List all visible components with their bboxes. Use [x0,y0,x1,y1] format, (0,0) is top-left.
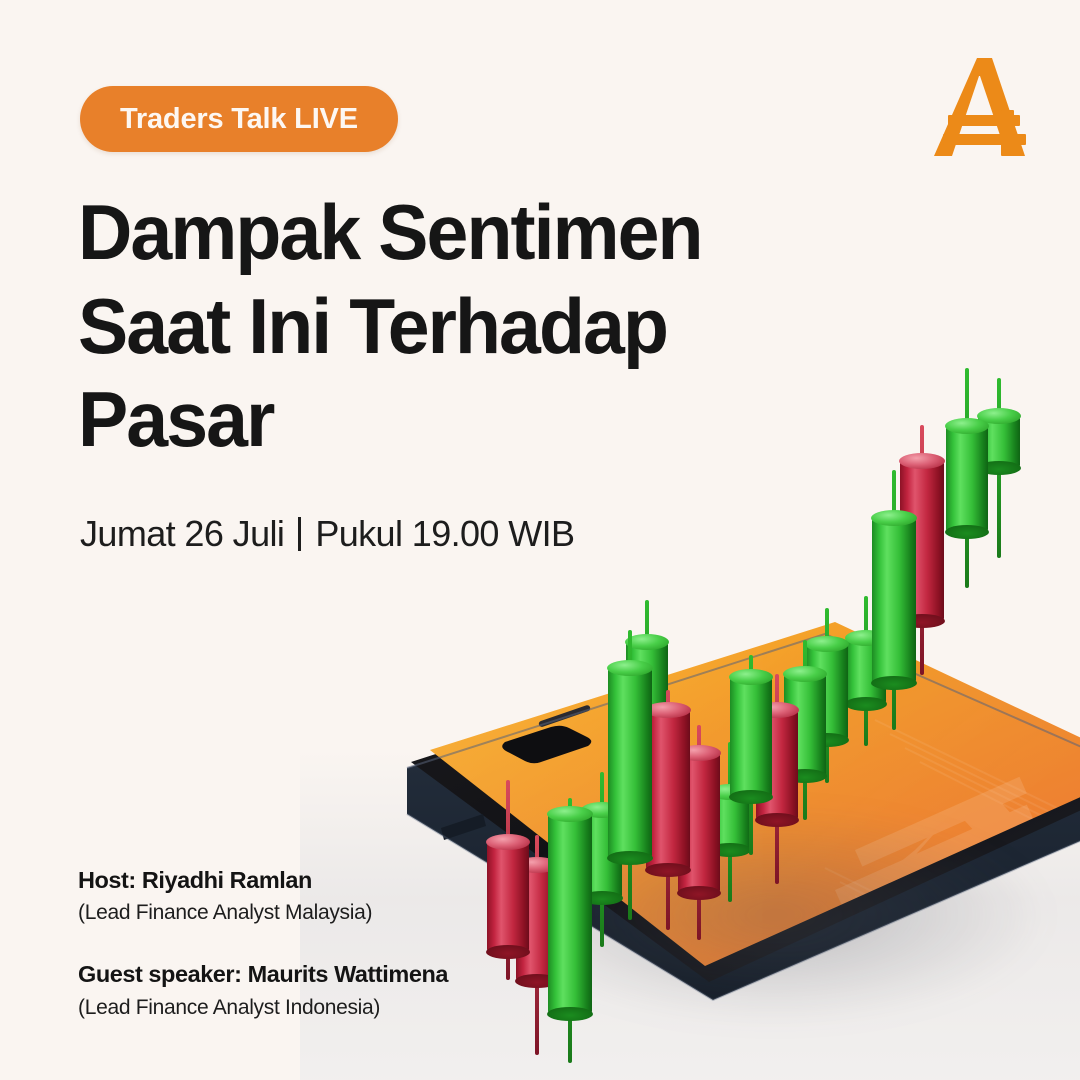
candle-12 [784,640,826,820]
speaker-role: (Lead Finance Analyst Malaysia) [78,898,638,927]
title-line-1: Dampak Sentimen [78,193,831,273]
schedule-time: Pukul 19.00 WIB [315,513,574,555]
octa-a-logo-icon [922,52,1032,164]
speaker-role: (Lead Finance Analyst Indonesia) [78,993,638,1022]
candle-13 [806,608,848,783]
schedule-line: Jumat 26 Juli Pukul 19.00 WIB [80,513,574,555]
candle-18 [978,378,1020,558]
poster-canvas: Traders Talk LIVE Dampak Sentimen Saat I… [0,0,1080,1080]
candle-6 [626,600,668,770]
candle-15 [872,470,916,730]
candle-17 [946,368,988,588]
speaker-name: Guest speaker: Maurits Wattimena [78,959,638,989]
phone-volume-button [441,814,486,840]
title-line-3: Pasar [78,380,831,460]
live-badge-label: Traders Talk LIVE [120,103,358,136]
candle-14 [846,596,886,746]
page-title: Dampak Sentimen Saat Ini Terhadap Pasar [78,193,831,474]
schedule-separator-icon [298,517,301,551]
phone-notch [502,726,591,764]
phone-earpiece [538,704,591,727]
schedule-date: Jumat 26 Juli [80,513,284,555]
speaker-list: Host: Riyadhi Ramlan (Lead Finance Analy… [78,865,638,1054]
candle-7 [646,690,690,930]
candle-8 [678,725,720,940]
title-line-2: Saat Ini Terhadap [78,287,831,367]
speaker-name: Host: Riyadhi Ramlan [78,865,638,895]
candle-10 [730,655,772,855]
speaker-host: Host: Riyadhi Ramlan (Lead Finance Analy… [78,865,638,927]
candle-16 [900,425,944,675]
candle-11 [756,674,798,884]
speaker-guest: Guest speaker: Maurits Wattimena (Lead F… [78,959,638,1021]
candle-9 [710,742,750,902]
live-badge[interactable]: Traders Talk LIVE [80,86,398,152]
